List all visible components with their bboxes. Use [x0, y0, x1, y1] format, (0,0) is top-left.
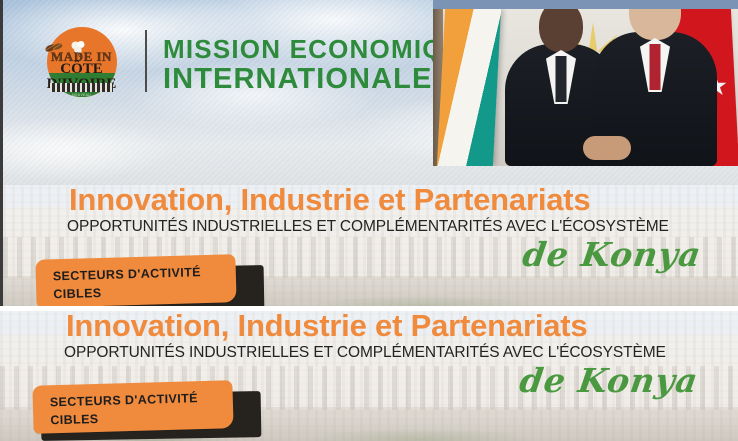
- banner-script-title: de Konya: [520, 235, 704, 274]
- made-in-cote-divoire-logo[interactable]: MADE IN CÔTE D'IVOIRE NOUVEAU REGARD IVO…: [33, 27, 130, 117]
- badge-orange-shape[interactable]: SECTEURS D'ACTIVITÉ CIBLES: [35, 254, 236, 308]
- badge-line-2: CIBLES: [53, 286, 102, 301]
- banner-script-title: de Konya: [517, 361, 701, 400]
- slide-two[interactable]: Innovation, Industrie et Partenariats OP…: [0, 311, 738, 441]
- photo-inner: [433, 9, 738, 166]
- banner-title: Innovation, Industrie et Partenariats: [66, 311, 587, 344]
- logo-subtext: NOUVEAU REGARD IVOIRIEN: [50, 93, 113, 106]
- handshake-hands: [583, 136, 631, 160]
- secteurs-badge[interactable]: SECTEURS D'ACTIVITÉ CIBLES: [33, 383, 268, 439]
- person-left-tie: [556, 56, 567, 102]
- banner-subtitle: OPPORTUNITÉS INDUSTRIELLES ET COMPLÉMENT…: [67, 218, 669, 236]
- logo-pattern-band: [50, 83, 113, 92]
- badge-orange-shape[interactable]: SECTEURS D'ACTIVITÉ CIBLES: [32, 380, 233, 434]
- photo-top-band: [433, 0, 738, 9]
- secteurs-badge[interactable]: SECTEURS D'ACTIVITÉ CIBLES: [36, 257, 271, 308]
- badge-line-1: SECTEURS D'ACTIVITÉ: [50, 391, 198, 409]
- banner-one[interactable]: Innovation, Industrie et Partenariats OP…: [3, 185, 738, 308]
- header-divider: [145, 30, 147, 92]
- banner-title: Innovation, Industrie et Partenariats: [69, 185, 590, 218]
- person-right-head: [629, 9, 681, 40]
- logo-subtext-3: IVOIRIEN: [50, 101, 113, 105]
- banner-two[interactable]: Innovation, Industrie et Partenariats OP…: [0, 311, 738, 441]
- person-left-head: [539, 9, 583, 52]
- handshake-photo[interactable]: [433, 0, 738, 166]
- badge-line-2: CIBLES: [50, 412, 99, 427]
- banner-subtitle: OPPORTUNITÉS INDUSTRIELLES ET COMPLÉMENT…: [64, 344, 666, 362]
- cote-divoire-flag: [437, 9, 501, 166]
- slide-preview-stage: MADE IN CÔTE D'IVOIRE NOUVEAU REGARD IVO…: [0, 0, 738, 441]
- badge-line-1: SECTEURS D'ACTIVITÉ: [53, 265, 201, 283]
- person-right-tie: [650, 44, 661, 90]
- slide-one[interactable]: MADE IN CÔTE D'IVOIRE NOUVEAU REGARD IVO…: [0, 0, 738, 308]
